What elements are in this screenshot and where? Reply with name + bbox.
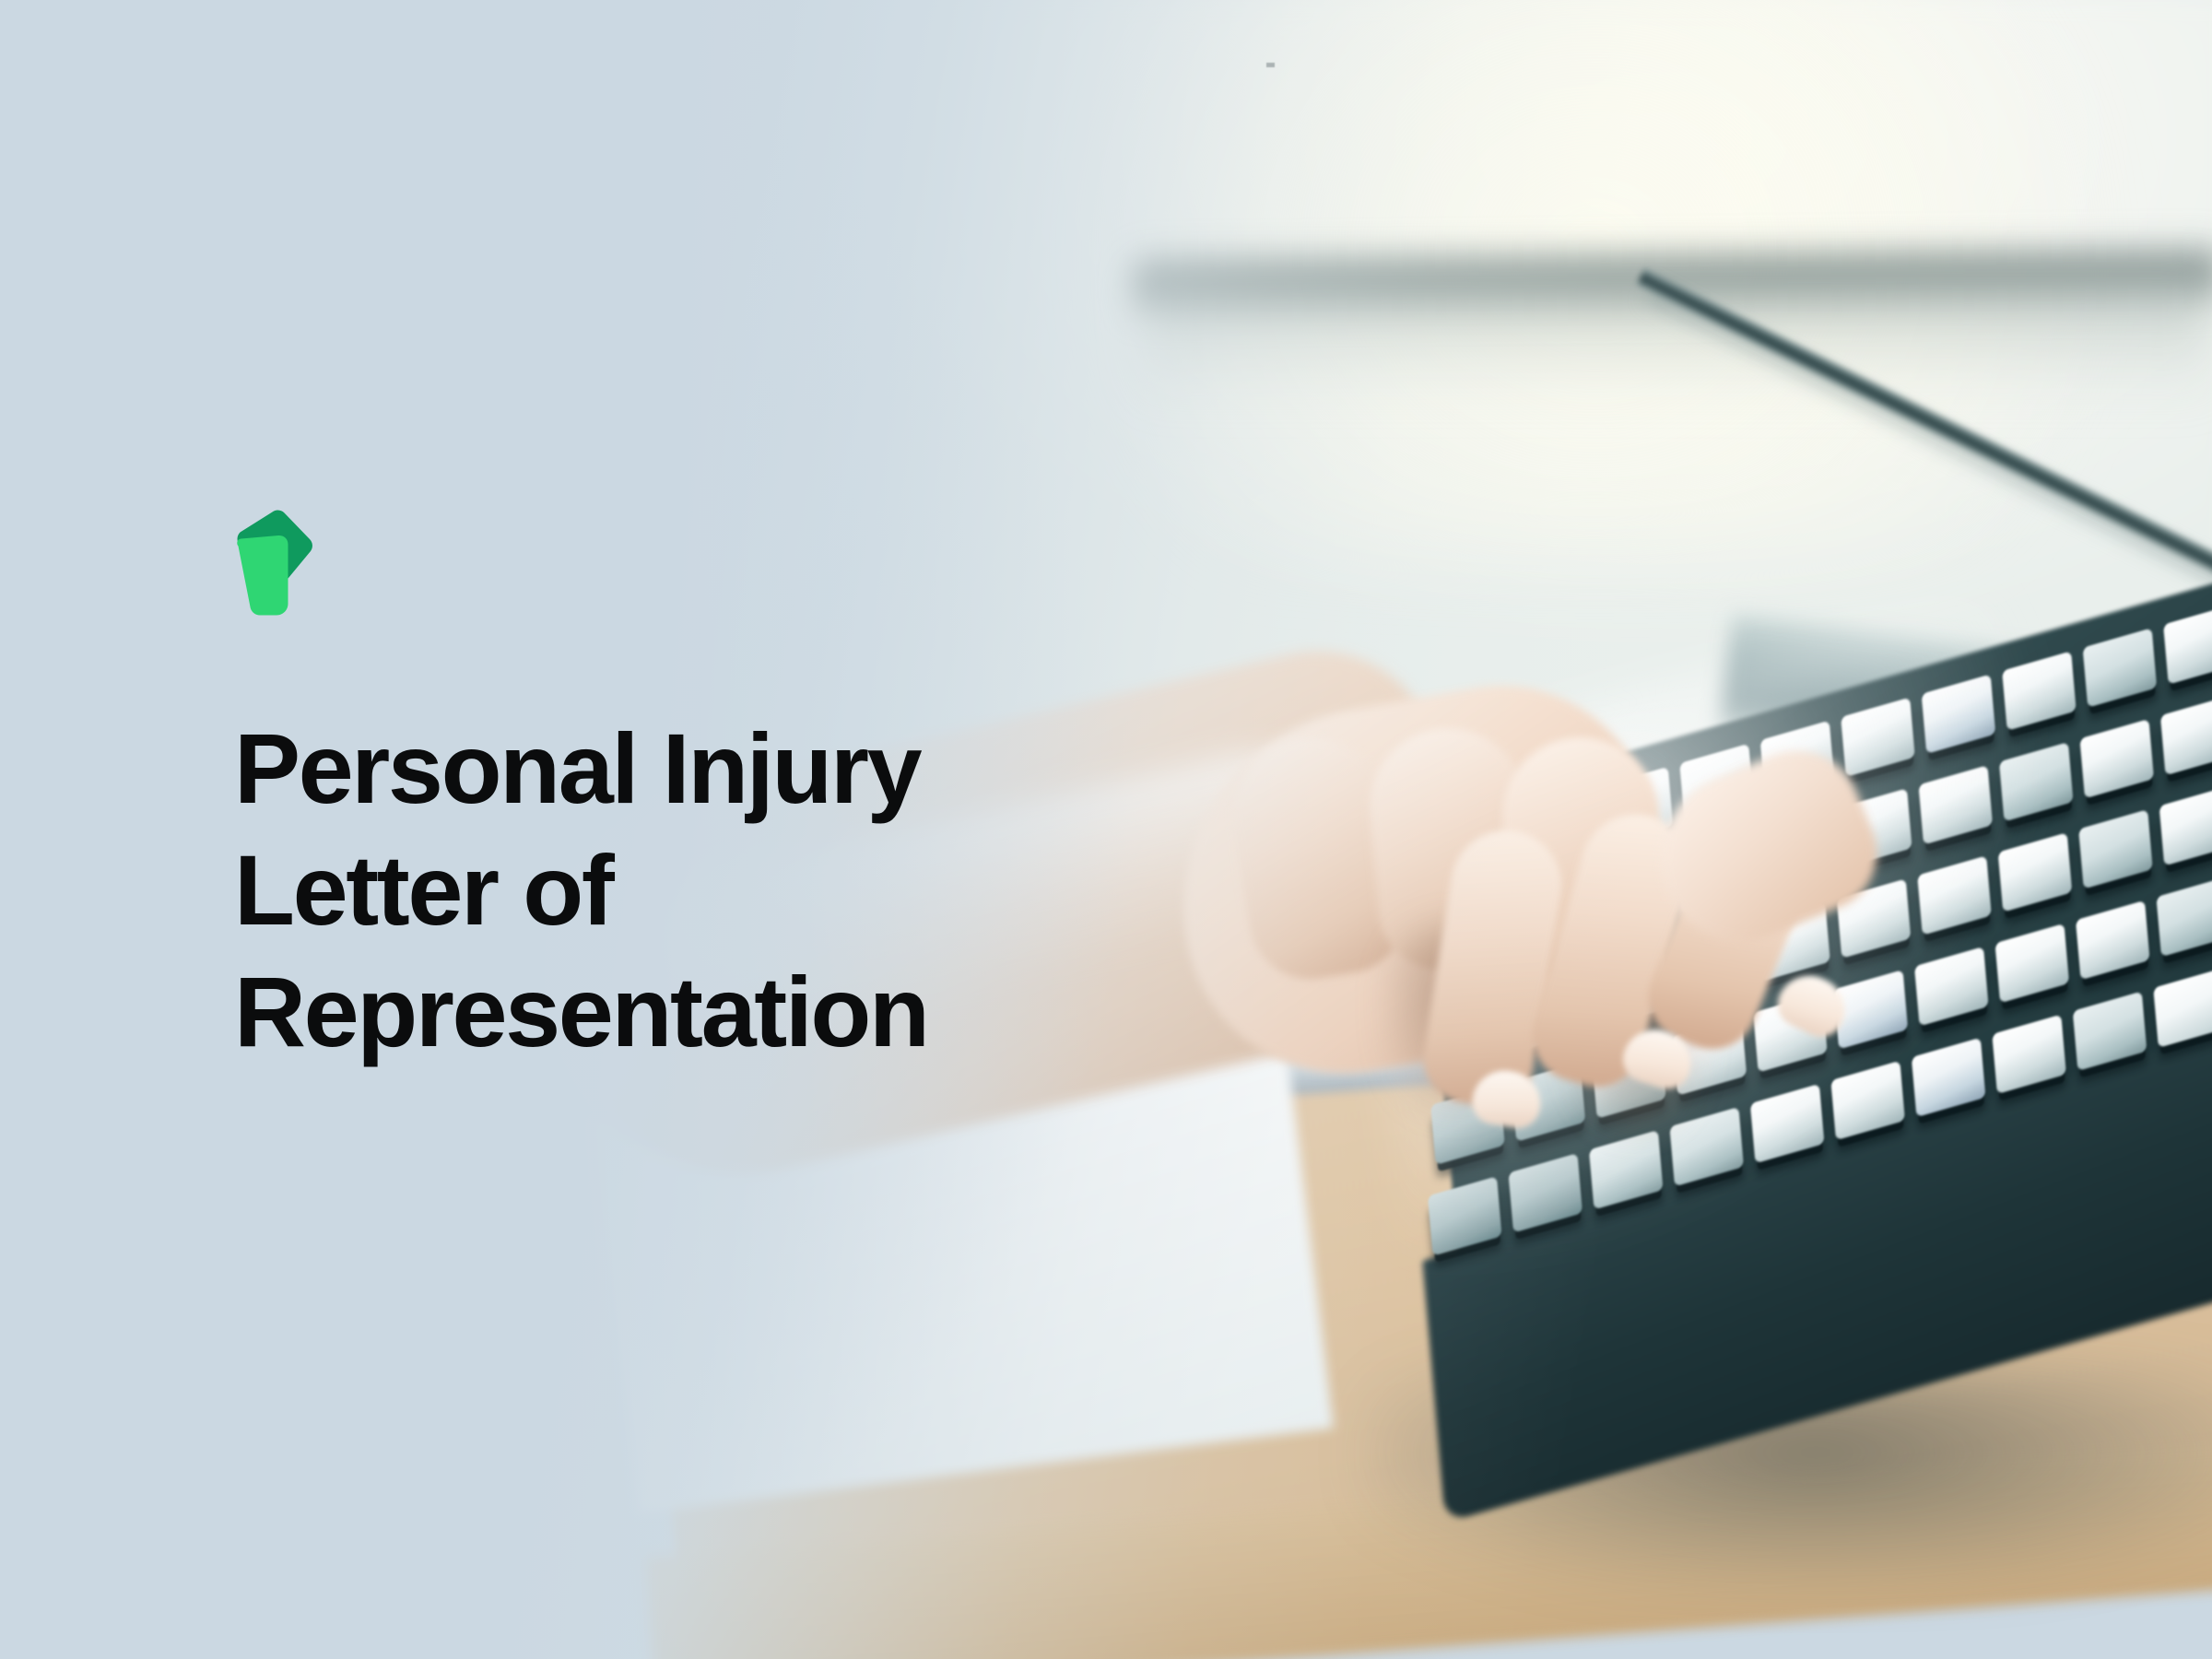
hero-content: Personal Injury Letter of Representation — [0, 0, 1290, 1659]
brand-logo[interactable] — [235, 509, 314, 618]
hero-banner: Personal Injury Letter of Representation — [0, 0, 2212, 1659]
logo-shape-bright — [237, 535, 288, 616]
page-title: Personal Injury Letter of Representation — [234, 708, 1211, 1073]
